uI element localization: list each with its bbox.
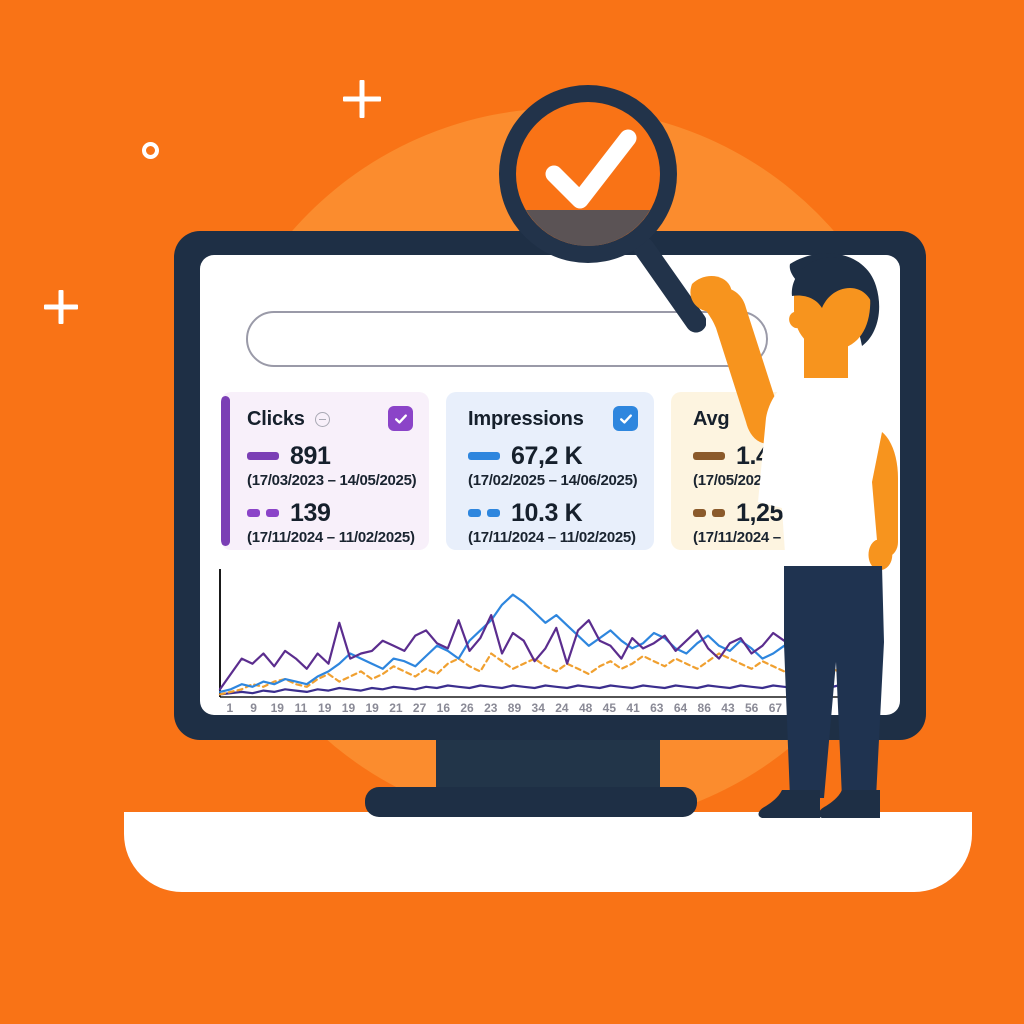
- metric-primary-clicks: 891: [247, 441, 429, 471]
- metric-range-compare: (17/11/2024 – 11/02/2025): [468, 529, 654, 546]
- chart-x-tick: 19: [337, 701, 361, 715]
- chart-x-tick: 24: [550, 701, 574, 715]
- standing-person-illustration: [686, 250, 936, 830]
- chart-x-tick: 45: [598, 701, 622, 715]
- plus-decoration-left: [44, 290, 78, 324]
- info-icon[interactable]: [315, 412, 330, 427]
- legend-swatch-solid-icon: [468, 452, 500, 460]
- magnifier-checkmark-icon: [496, 76, 706, 336]
- chart-x-tick: 11: [289, 701, 313, 715]
- card-accent-bar-clicks: [221, 396, 230, 546]
- metric-compare-clicks: 139: [247, 498, 429, 528]
- chart-x-tick: 34: [526, 701, 550, 715]
- chart-x-tick: 9: [242, 701, 266, 715]
- legend-swatch-solid-icon: [247, 452, 279, 460]
- legend-swatch-dashed-icon: [468, 509, 500, 517]
- metric-range-primary: (17/02/2025 – 14/06/2025): [468, 472, 654, 489]
- chart-x-tick: 27: [408, 701, 432, 715]
- metric-value-primary: 891: [290, 442, 331, 471]
- chart-x-tick: 41: [621, 701, 645, 715]
- metric-value-primary: 67,2 K: [511, 442, 582, 471]
- metric-value-compare: 10.3 K: [511, 499, 582, 528]
- chart-x-tick: 48: [574, 701, 598, 715]
- checkbox-clicks[interactable]: [388, 406, 413, 431]
- chart-x-tick: 21: [384, 701, 408, 715]
- checkbox-impressions[interactable]: [613, 406, 638, 431]
- card-title-clicks: Clicks: [247, 408, 305, 431]
- chart-x-tick: 19: [265, 701, 289, 715]
- plus-decoration-top: [343, 80, 381, 118]
- metric-compare-impressions: 10.3 K: [468, 498, 654, 528]
- chart-x-tick: 23: [479, 701, 503, 715]
- chart-x-tick: 63: [645, 701, 669, 715]
- metric-value-compare: 139: [290, 499, 331, 528]
- chart-x-tick: 19: [360, 701, 384, 715]
- chart-x-tick: 26: [455, 701, 479, 715]
- chart-x-tick: 16: [431, 701, 455, 715]
- chart-x-tick: 89: [503, 701, 527, 715]
- illustration-canvas: Clicks 891 (17/03/2023 – 14/05/2025): [0, 0, 1024, 1024]
- monitor-base: [365, 787, 697, 817]
- metric-primary-impressions: 67,2 K: [468, 441, 654, 471]
- card-title-impressions: Impressions: [468, 408, 584, 431]
- metric-range-primary: (17/03/2023 – 14/05/2025): [247, 472, 429, 489]
- legend-swatch-dashed-icon: [247, 509, 279, 517]
- metric-range-compare: (17/11/2024 – 11/02/2025): [247, 529, 429, 546]
- metric-card-impressions[interactable]: Impressions 67,2 K (17/02/2025 – 14/06/2…: [446, 392, 654, 550]
- chart-x-tick: 19: [313, 701, 337, 715]
- chart-x-tick: 1: [218, 701, 242, 715]
- metric-card-clicks[interactable]: Clicks 891 (17/03/2023 – 14/05/2025): [221, 392, 429, 550]
- ring-decoration: [142, 142, 159, 159]
